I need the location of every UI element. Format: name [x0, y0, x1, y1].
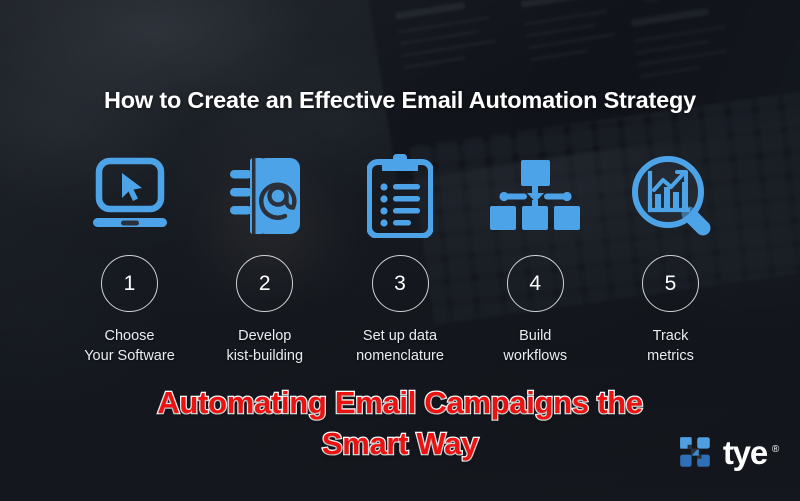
tye-logo: tye ®: [678, 435, 767, 469]
step-item: 4 Build workflows: [468, 152, 603, 366]
infographic-banner: How to Create an Effective Email Automat…: [0, 0, 800, 501]
tye-squares-logo-icon: [678, 435, 712, 469]
step-label: Choose Your Software: [84, 326, 175, 366]
tye-wordmark-text: tye: [723, 434, 767, 471]
laptop-cursor-icon: [90, 152, 170, 240]
step-item: 5 Track metrics: [603, 152, 738, 366]
step-number: 2: [236, 255, 293, 312]
clipboard-checklist-icon: [367, 152, 433, 240]
step-item: 2 Develop kist-building: [197, 152, 332, 366]
step-number: 5: [642, 255, 699, 312]
step-number: 3: [372, 255, 429, 312]
step-item: 3 Set up data nomenclature: [333, 152, 468, 366]
step-number: 4: [507, 255, 564, 312]
step-label: Develop kist-building: [226, 326, 303, 366]
tye-wordmark: tye ®: [723, 436, 767, 469]
registered-mark: ®: [772, 433, 778, 466]
step-label: Track metrics: [647, 326, 694, 366]
magnifier-chart-icon: [630, 152, 712, 240]
step-item: 1 Choose Your Software: [62, 152, 197, 366]
steps-row: 1 Choose Your Software: [62, 152, 738, 366]
step-label: Set up data nomenclature: [356, 326, 444, 366]
address-book-at-icon: [228, 152, 302, 240]
workflow-hierarchy-icon: [488, 152, 582, 240]
step-label: Build workflows: [503, 326, 567, 366]
overlay-title-line1: Automating Email Campaigns the: [157, 385, 642, 420]
page-title: How to Create an Effective Email Automat…: [0, 87, 800, 114]
step-number: 1: [101, 255, 158, 312]
